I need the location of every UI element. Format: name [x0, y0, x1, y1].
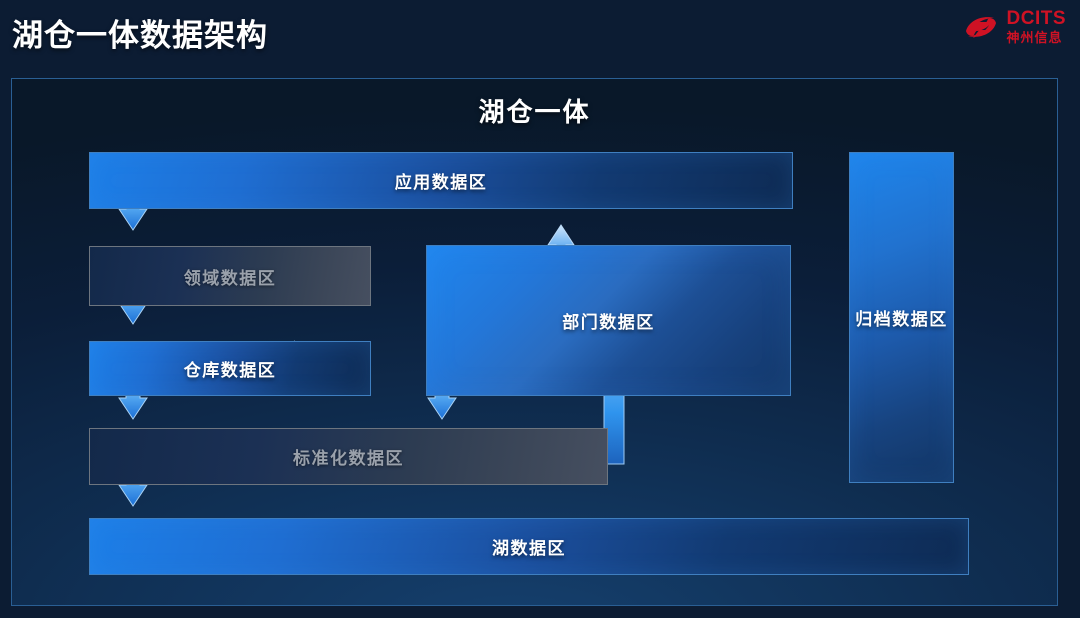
box-archive-data-zone[interactable]: 归档数据区 — [849, 152, 954, 483]
box-label-warehouse: 仓库数据区 — [184, 356, 277, 381]
box-domain-data-zone[interactable]: 领域数据区 — [89, 246, 371, 306]
box-warehouse-data-zone[interactable]: 仓库数据区 — [89, 341, 371, 396]
box-standard-data-zone[interactable]: 标准化数据区 — [89, 428, 608, 485]
box-app-data-zone[interactable]: 应用数据区 — [89, 152, 793, 209]
diagram-title: 湖仓一体 — [12, 92, 1057, 129]
box-label-lake: 湖数据区 — [492, 534, 566, 559]
page-title: 湖仓一体数据架构 — [12, 10, 268, 55]
diagram-panel: 湖仓一体 — [11, 78, 1058, 606]
box-label-archive: 归档数据区 — [855, 305, 948, 330]
box-label-app: 应用数据区 — [395, 168, 488, 193]
box-lake-data-zone[interactable]: 湖数据区 — [89, 518, 969, 575]
box-label-dept: 部门数据区 — [562, 308, 655, 333]
box-label-standard: 标准化数据区 — [293, 444, 404, 469]
brand-name-cn: 神州信息 — [1007, 31, 1067, 44]
box-label-domain: 领域数据区 — [184, 264, 277, 289]
dcits-swoosh-logo-icon — [961, 10, 1001, 44]
slide-root: 湖仓一体数据架构 DCITS 神州信息 湖仓一体 — [0, 0, 1080, 618]
brand-logo: DCITS 神州信息 — [961, 9, 1067, 44]
box-dept-data-zone[interactable]: 部门数据区 — [426, 245, 791, 396]
brand-name-en: DCITS — [1007, 9, 1067, 28]
